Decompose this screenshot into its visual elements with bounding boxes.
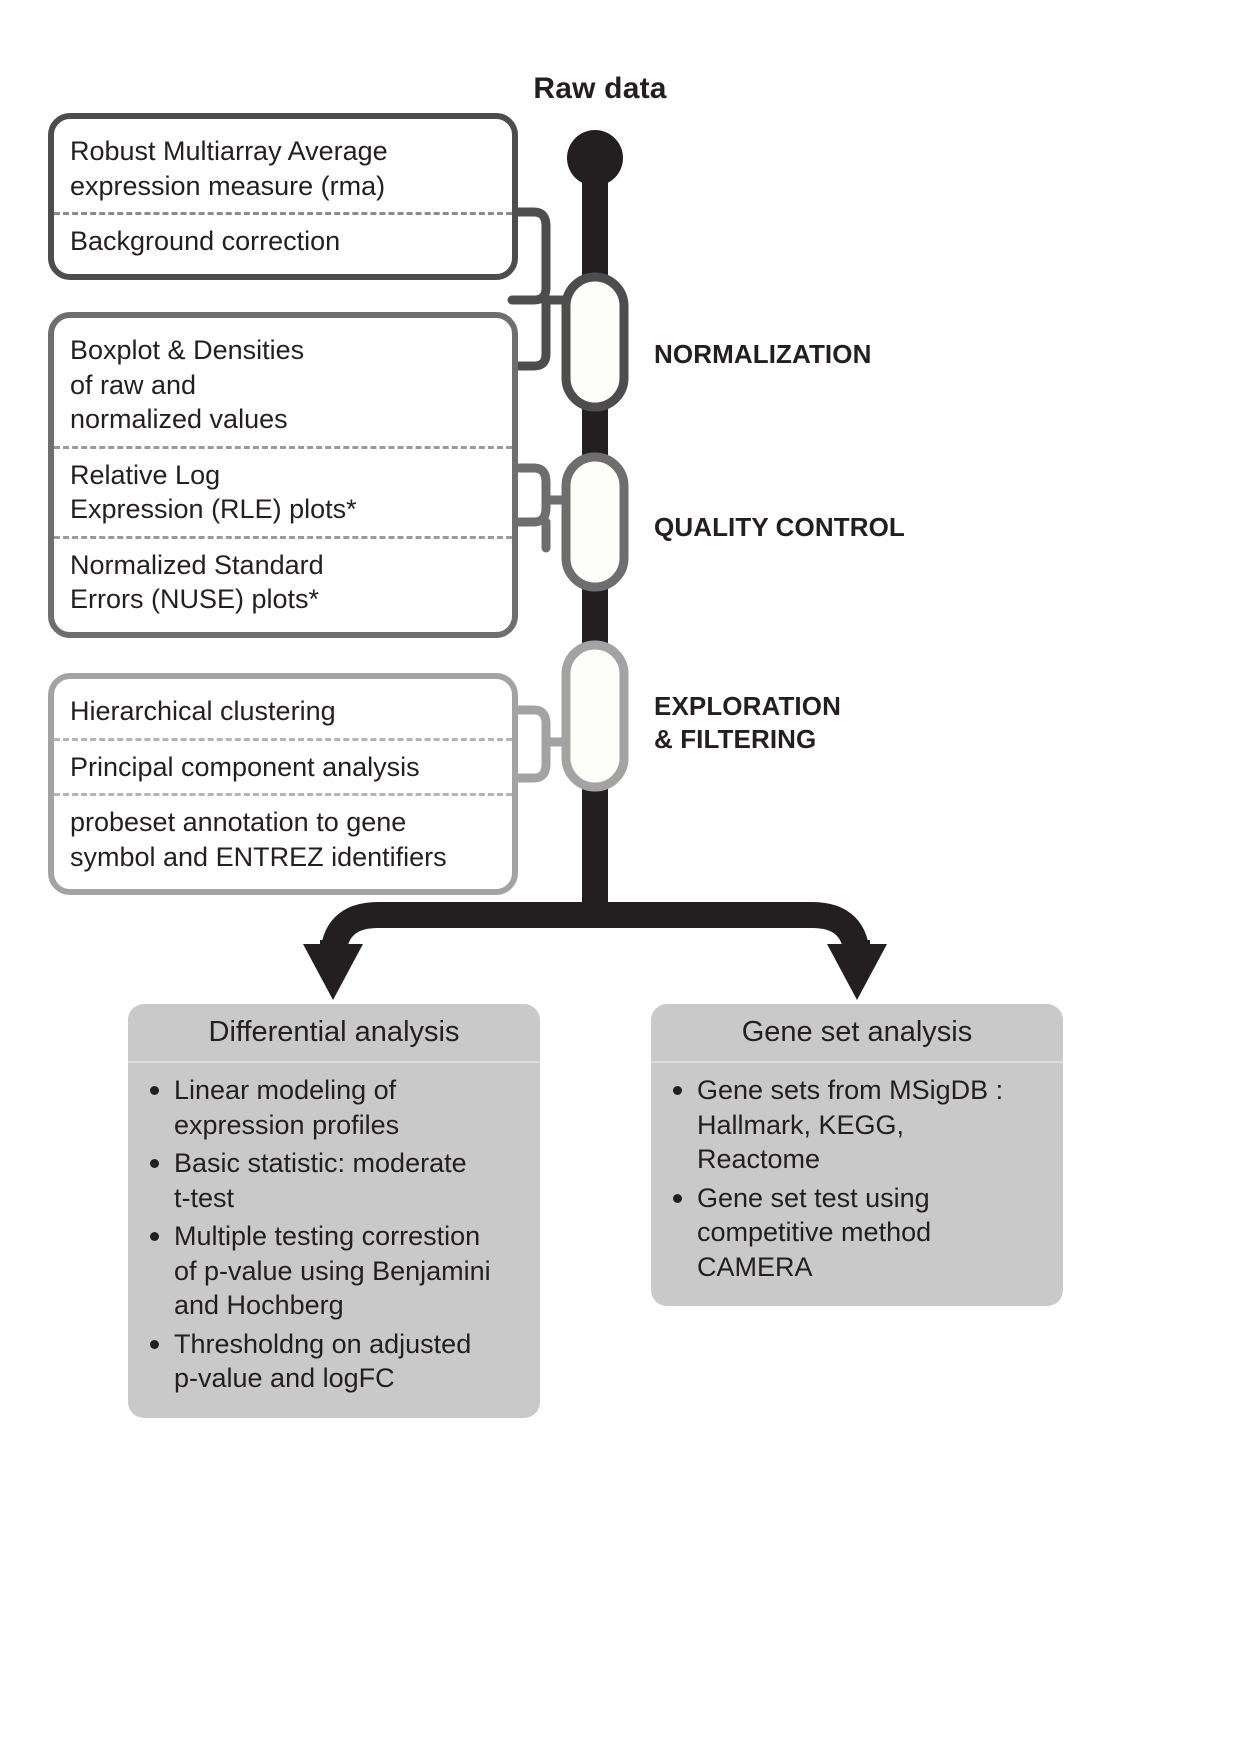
stage-node-normalization [566,277,624,407]
list-item: Basic statistic: moderate t-test [146,1146,524,1215]
list-item: Thresholdng on adjusted p-value and logF… [146,1327,524,1396]
outcome-card-gene-set-analysis: Gene set analysis Gene sets from MSigDB … [651,1004,1063,1306]
stage-label-exploration-filtering: EXPLORATION & FILTERING [654,690,841,757]
flowchart-canvas: Raw data Robust Multiarray Average expre… [0,0,1240,1753]
stage-step: Background correction [54,212,512,268]
stage-step: Relative Log Expression (RLE) plots* [54,446,512,536]
stage-step: Boxplot & Densities of raw and normalize… [54,324,512,446]
raw-data-node [567,130,623,186]
outcome-item-list: Gene sets from MSigDB : Hallmark, KEGG, … [651,1063,1063,1306]
stage-panel-normalization: Robust Multiarray Average expression mea… [48,113,518,280]
list-item: Linear modeling of expression profiles [146,1073,524,1142]
stage-step: probeset annotation to gene symbol and E… [54,793,512,883]
stage-node-quality-control [566,457,624,587]
page-title: Raw data [470,72,730,106]
stage-panel-exploration-filtering: Hierarchical clustering Principal compon… [48,673,518,895]
stage-panel-quality-control: Boxplot & Densities of raw and normalize… [48,312,518,638]
stage-label-quality-control: QUALITY CONTROL [654,511,905,544]
stage-step: Hierarchical clustering [54,685,512,738]
arrow-head-right [827,944,887,1000]
fork-bar [333,915,857,960]
stage-node-exploration [566,645,624,787]
outcome-title: Differential analysis [128,1004,540,1063]
outcome-item-list: Linear modeling of expression profiles B… [128,1063,540,1418]
stage-step: Robust Multiarray Average expression mea… [54,125,512,212]
list-item: Multiple testing correstion of p-value u… [146,1219,524,1323]
stage-step: Normalized Standard Errors (NUSE) plots* [54,536,512,626]
outcome-card-differential-analysis: Differential analysis Linear modeling of… [128,1004,540,1418]
arrow-head-left [303,944,363,1000]
list-item: Gene sets from MSigDB : Hallmark, KEGG, … [669,1073,1047,1177]
list-item: Gene set test using competitive method C… [669,1181,1047,1285]
outcome-title: Gene set analysis [651,1004,1063,1063]
stage-step: Principal component analysis [54,738,512,794]
stage-label-normalization: NORMALIZATION [654,338,871,371]
